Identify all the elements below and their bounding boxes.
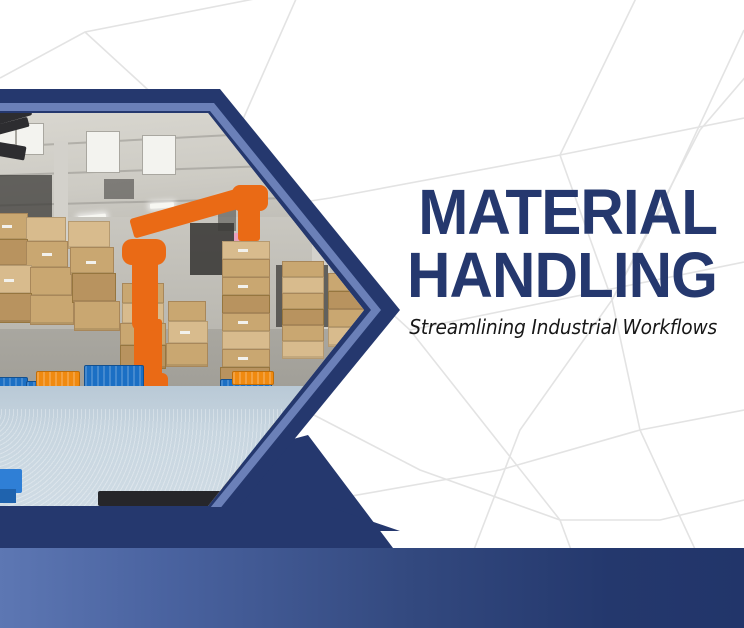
- blue-floor-fixture-base: [0, 489, 16, 503]
- photo-dark-opening: [104, 179, 134, 199]
- photo-box-label: [2, 225, 12, 228]
- photo-window: [142, 135, 176, 175]
- photo-cardboard-box: [72, 273, 116, 303]
- photo-cardboard-box: [222, 259, 270, 279]
- orange-crate: [232, 371, 274, 385]
- black-pallet: [236, 485, 364, 501]
- photo-box-label: [238, 285, 248, 288]
- photo-cardboard-box: [0, 239, 28, 267]
- headline-line-2: HANDLING: [341, 245, 717, 306]
- material-handling-banner: MATERIAL HANDLING Streamlining Industria…: [0, 0, 744, 628]
- photo-cardboard-box: [222, 295, 270, 315]
- photo-cardboard-box: [68, 221, 110, 249]
- blue-crate: [288, 443, 344, 469]
- headline-line-1: MATERIAL: [341, 182, 717, 243]
- photo-cardboard-box: [166, 343, 208, 367]
- black-pallet: [98, 491, 284, 506]
- photo-cardboard-box: [222, 331, 270, 351]
- robot-arm-shoulder-joint: [122, 239, 166, 265]
- black-pallet: [240, 495, 364, 506]
- headline-text-block: MATERIAL HANDLING Streamlining Industria…: [317, 182, 717, 338]
- subtitle-tagline: Streamlining Industrial Workflows: [345, 316, 717, 338]
- photo-cardboard-box: [168, 301, 206, 323]
- photo-box-label: [180, 331, 190, 334]
- photo-box-label: [42, 253, 52, 256]
- footer-gradient-bar: [0, 548, 744, 628]
- photo-box-label: [86, 261, 96, 264]
- photo-cardboard-box: [30, 267, 72, 297]
- photo-box-label: [238, 321, 248, 324]
- photo-cardboard-box: [30, 295, 74, 325]
- photo-cardboard-box: [26, 217, 66, 243]
- robot-arm-wrist-link: [238, 197, 260, 241]
- photo-cardboard-box: [0, 293, 32, 323]
- photo-box-label: [238, 357, 248, 360]
- orange-crate: [36, 371, 80, 387]
- photo-window: [86, 131, 120, 173]
- warehouse-photo: [0, 113, 364, 506]
- bottom-navy-band: [0, 507, 400, 531]
- photo-cardboard-box: [282, 341, 324, 359]
- photo-box-label: [238, 249, 248, 252]
- photo-box-label: [4, 279, 14, 282]
- photo-cardboard-box: [74, 301, 120, 331]
